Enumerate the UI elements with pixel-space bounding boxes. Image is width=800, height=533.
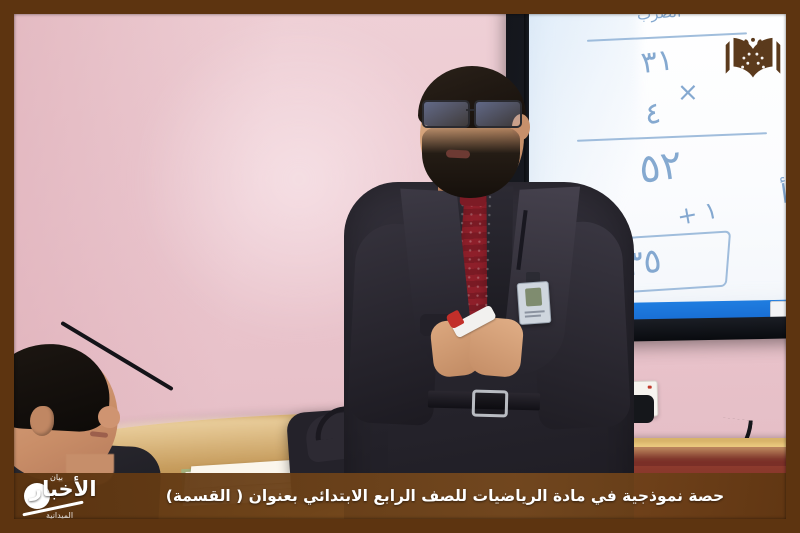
ink-partial-result: ٥٢ bbox=[636, 141, 684, 193]
teacher-mouth bbox=[446, 149, 470, 158]
id-badge bbox=[517, 281, 552, 325]
caption-bar: حصة نموذجية في مادة الرياضيات للصف الراب… bbox=[14, 473, 786, 519]
open-book-logo bbox=[720, 32, 786, 84]
glasses-icon bbox=[418, 100, 526, 126]
logo-main-word: الأخبار bbox=[30, 477, 97, 501]
broadcast-still: الضرب ٣١ × ٤ ٥٢ + ١ ٣٥ أ bbox=[0, 0, 800, 533]
ink-side-note: أ bbox=[779, 179, 786, 210]
student-ear bbox=[30, 406, 54, 436]
ink-operator: × bbox=[677, 77, 699, 107]
socket-indicator bbox=[648, 386, 652, 389]
ink-top-note: الضرب bbox=[637, 14, 682, 24]
student-nose bbox=[98, 406, 120, 428]
photo-area: الضرب ٣١ × ٤ ٥٢ + ١ ٣٥ أ bbox=[14, 14, 786, 519]
glasses-bridge bbox=[466, 109, 476, 111]
badge-photo bbox=[525, 287, 542, 306]
ink-multiplier: ٤ bbox=[644, 96, 663, 132]
glasses-lens-right bbox=[474, 100, 522, 128]
belt-buckle bbox=[472, 390, 509, 418]
caption-text: حصة نموذجية في مادة الرياضيات للصف الراب… bbox=[14, 487, 786, 505]
ink-multiplicand: ٣١ bbox=[639, 42, 675, 81]
logo-bottom-word: الميدانية bbox=[46, 511, 73, 520]
channel-logo: بيان الأخبار الميدانية bbox=[20, 471, 104, 527]
glasses-lens-left bbox=[422, 100, 470, 128]
ink-carry: + ١ bbox=[675, 196, 720, 231]
